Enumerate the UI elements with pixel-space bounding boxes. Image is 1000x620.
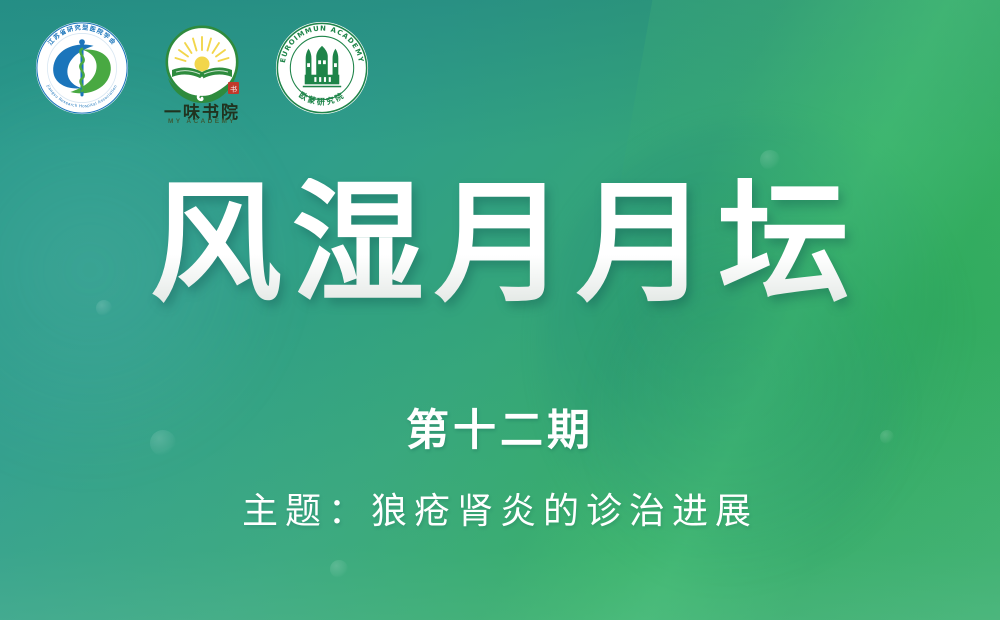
main-title: 风湿月月坛 <box>140 178 860 310</box>
theme-label: 主题：狼疮肾炎的诊治进展 <box>0 482 1000 534</box>
my-academy-logo: 书 一味书院 MY ACADEMY <box>152 20 252 120</box>
background-bottom-tint <box>0 320 1000 620</box>
title-container: 风湿月月坛 <box>0 178 1000 310</box>
presentation-slide: 江苏省研究型医院学会 Jiangsu Research Hospital Ass… <box>0 0 1000 620</box>
issue-label: 第十二期 <box>0 396 1000 458</box>
euroimmun-academy-logo: EUROIMMUN ACADEMY 欧蒙研究院 <box>274 20 370 116</box>
my-academy-roman-text: MY ACADEMY <box>152 118 252 125</box>
background-bubble <box>330 560 348 578</box>
svg-text:书: 书 <box>230 85 237 94</box>
jiangsu-research-hospital-association-logo: 江苏省研究型医院学会 Jiangsu Research Hospital Ass… <box>34 20 130 116</box>
logo-row: 江苏省研究型医院学会 Jiangsu Research Hospital Ass… <box>34 20 370 120</box>
